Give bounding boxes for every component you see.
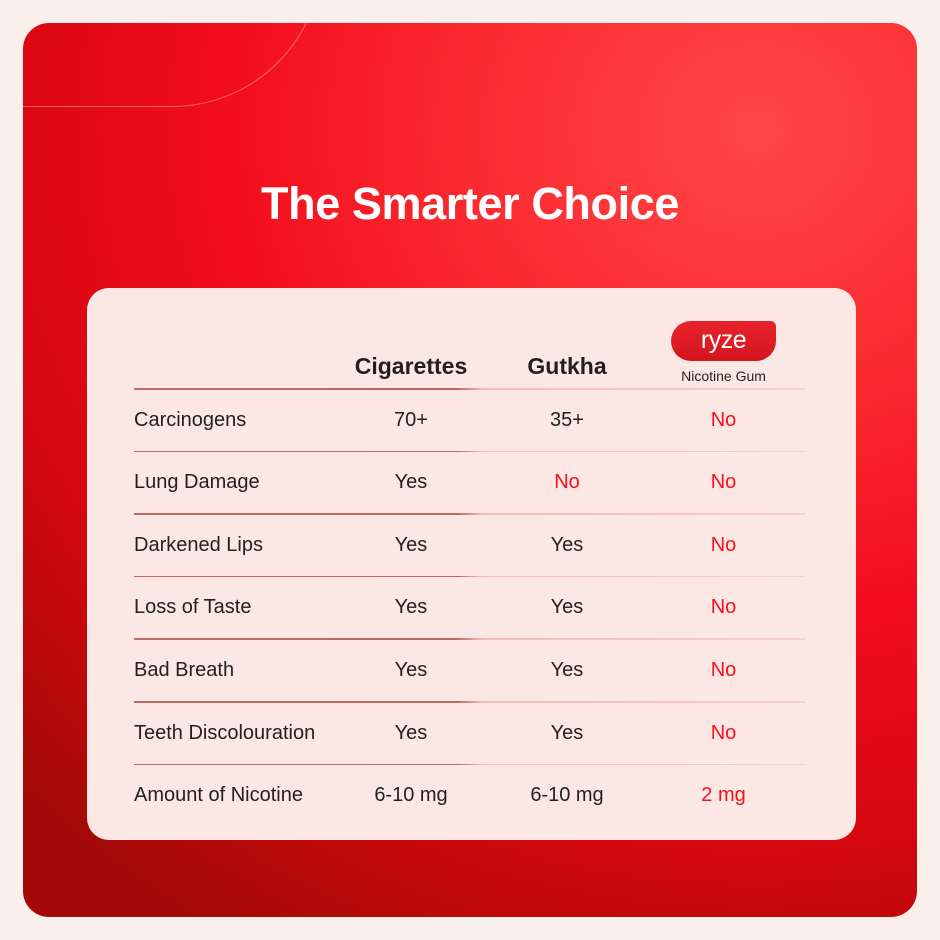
table-row: Darkened Lips Yes Yes No [134,515,805,576]
row-label: Teeth Discolouration [134,722,330,745]
cell-ryze: No [642,722,805,745]
row-label: Loss of Taste [134,596,330,619]
cell-cigarettes: Yes [330,722,492,745]
page-title: The Smarter Choice [23,181,917,226]
cell-ryze: No [642,534,805,557]
comparison-table: Cigarettes Gutkha ryze Nicotine Gum Carc… [134,288,805,840]
table-row: Bad Breath Yes Yes No [134,640,805,701]
cell-ryze: No [642,409,805,432]
cell-gutkha: Yes [492,596,642,619]
cell-gutkha: Yes [492,659,642,682]
cell-gutkha: Yes [492,722,642,745]
row-label: Lung Damage [134,471,330,494]
ryze-wordmark: ryze [701,328,746,353]
cell-cigarettes: Yes [330,659,492,682]
cell-cigarettes: Yes [330,534,492,557]
comparison-panel: Cigarettes Gutkha ryze Nicotine Gum Carc… [87,288,856,840]
table-row: Loss of Taste Yes Yes No [134,577,805,638]
poster-card: The Smarter Choice Cigarettes Gutkha ryz… [23,23,917,917]
column-header-ryze: ryze Nicotine Gum [642,321,805,384]
column-header-cigarettes: Cigarettes [330,353,492,380]
table-row: Carcinogens 70+ 35+ No [134,390,805,451]
cell-gutkha: 6-10 mg [492,784,642,807]
row-label: Amount of Nicotine [134,784,330,807]
cell-cigarettes: 6-10 mg [330,784,492,807]
column-header-gutkha: Gutkha [492,353,642,380]
cell-gutkha: Yes [492,534,642,557]
cell-gutkha: No [492,471,642,494]
cell-ryze: No [642,596,805,619]
row-label: Carcinogens [134,409,330,432]
cell-ryze: No [642,659,805,682]
cell-gutkha: 35+ [492,409,642,432]
table-row: Lung Damage Yes No No [134,452,805,513]
cell-cigarettes: 70+ [330,409,492,432]
ryze-logo-icon: ryze [671,321,776,361]
ryze-tagline: Nicotine Gum [681,368,766,384]
table-row: Amount of Nicotine 6-10 mg 6-10 mg 2 mg [134,765,805,826]
cell-ryze: 2 mg [642,784,805,807]
cell-cigarettes: Yes [330,596,492,619]
decorative-arc-line [23,23,322,107]
row-label: Bad Breath [134,659,330,682]
table-header-row: Cigarettes Gutkha ryze Nicotine Gum [134,288,805,388]
cell-cigarettes: Yes [330,471,492,494]
cell-ryze: No [642,471,805,494]
table-row: Teeth Discolouration Yes Yes No [134,703,805,764]
row-label: Darkened Lips [134,534,330,557]
